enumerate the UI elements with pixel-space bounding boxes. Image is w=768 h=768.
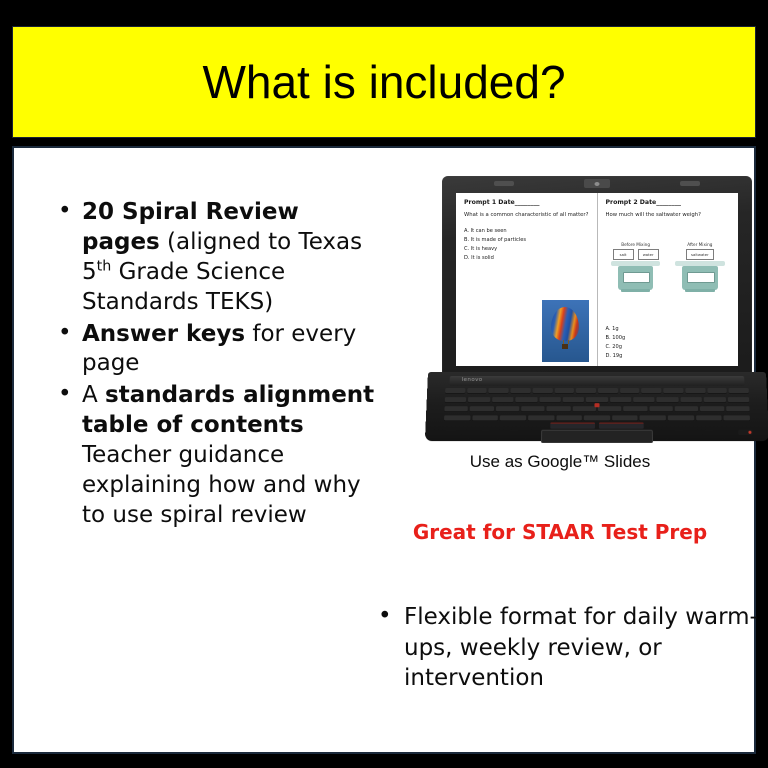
key xyxy=(726,406,750,411)
laptop-lid: Prompt 1 Date________ What is a common c… xyxy=(442,176,752,378)
key xyxy=(728,397,750,402)
key xyxy=(444,406,468,411)
key xyxy=(554,388,574,393)
scale-display xyxy=(623,272,651,283)
list-item: Flexible format for daily warm-ups, week… xyxy=(372,602,768,694)
key xyxy=(572,406,596,411)
key-row xyxy=(445,388,749,393)
balance-scales-diagram: Before Mixing salt water xyxy=(604,233,733,291)
prompt2-heading: Prompt 2 Date________ xyxy=(606,199,733,206)
trackpoint-button-left xyxy=(550,423,595,429)
beaker-row-after: saltwater xyxy=(670,249,729,260)
worksheet-pane-left: Prompt 1 Date________ What is a common c… xyxy=(456,193,597,366)
brand-logo: lenovo xyxy=(462,377,483,383)
key xyxy=(724,415,750,420)
key xyxy=(598,406,622,411)
slide-root: What is included? 20 Spiral Review pages… xyxy=(0,0,768,768)
key xyxy=(663,388,683,393)
option-d: D. 19g xyxy=(606,352,626,361)
webcam-icon xyxy=(584,179,610,188)
key xyxy=(707,388,727,393)
scale-icon xyxy=(606,261,665,291)
key xyxy=(633,397,655,402)
scale-base xyxy=(618,266,653,290)
key xyxy=(532,388,552,393)
key xyxy=(685,388,705,393)
page-title: What is included? xyxy=(202,59,565,105)
laptop-screen: Prompt 1 Date________ What is a common c… xyxy=(456,193,738,366)
key xyxy=(649,406,673,411)
hinge-bar xyxy=(449,376,744,386)
balloon-basket-icon xyxy=(562,344,568,349)
key xyxy=(445,388,465,393)
touchpad xyxy=(541,430,653,443)
key xyxy=(704,397,726,402)
laptop-caption: Use as Google™ Slides xyxy=(366,452,754,472)
option-c: C. It is heavy xyxy=(464,245,591,254)
trackpoint-button-right xyxy=(599,423,644,429)
prompt2-options: A. 1g B. 100g C. 20g D. 19g xyxy=(606,325,626,361)
key xyxy=(492,397,514,402)
key-row xyxy=(444,415,750,420)
bullet-bold-lead: standards alignment table of contents xyxy=(82,382,374,438)
option-b: B. 100g xyxy=(606,334,626,343)
key xyxy=(556,415,582,420)
worksheet-pane-right: Prompt 2 Date________ How much will the … xyxy=(597,193,739,366)
key xyxy=(668,415,694,420)
key xyxy=(547,406,571,411)
list-item: 20 Spiral Review pages (aligned to Texas… xyxy=(44,198,384,318)
trackpoint-buttons xyxy=(550,423,643,429)
right-column: Prompt 1 Date________ What is a common c… xyxy=(366,162,754,742)
content-panel: 20 Spiral Review pages (aligned to Texas… xyxy=(12,146,756,754)
key xyxy=(624,406,648,411)
title-banner: What is included? xyxy=(12,26,756,138)
beaker-saltwater: saltwater xyxy=(686,249,714,260)
bullet-text-cont: Grade Science Standards TEKS) xyxy=(82,259,285,315)
key xyxy=(576,388,596,393)
key xyxy=(598,388,618,393)
key xyxy=(511,388,531,393)
list-item: Answer keys for every page xyxy=(44,320,384,380)
prompt1-heading: Prompt 1 Date________ xyxy=(464,199,591,206)
key xyxy=(729,388,749,393)
ordinal-suffix: th xyxy=(97,258,112,274)
key xyxy=(642,388,662,393)
laptop-base: lenovo xyxy=(425,372,768,441)
scale-label-after: After Mixing xyxy=(670,242,729,247)
key xyxy=(521,406,545,411)
scale-icon xyxy=(670,261,729,291)
bullet-bold-lead: Answer keys xyxy=(82,321,245,347)
key xyxy=(584,415,610,420)
key xyxy=(696,415,722,420)
key xyxy=(620,388,640,393)
beaker-salt: salt xyxy=(613,249,634,260)
scale-after-mixing: After Mixing saltwater xyxy=(670,242,729,291)
option-a: A. 1g xyxy=(606,325,626,334)
laptop-illustration: Prompt 1 Date________ What is a common c… xyxy=(428,176,766,442)
option-b: B. It is made of particles xyxy=(464,236,591,245)
beaker-row-before: salt water xyxy=(606,249,665,260)
key xyxy=(500,415,526,420)
key xyxy=(586,397,608,402)
prompt1-options: A. It can be seen B. It is made of parti… xyxy=(464,227,591,263)
key xyxy=(675,406,699,411)
key xyxy=(657,397,679,402)
key xyxy=(700,406,724,411)
key xyxy=(612,415,638,420)
key xyxy=(496,406,520,411)
scale-display xyxy=(687,272,715,283)
scale-feet xyxy=(685,289,715,292)
key xyxy=(470,406,494,411)
key xyxy=(610,397,632,402)
key xyxy=(640,415,666,420)
scale-label-before: Before Mixing xyxy=(606,242,665,247)
thinkpad-logo-icon xyxy=(738,430,752,435)
prompt1-question: What is a common characteristic of all m… xyxy=(464,212,591,220)
key xyxy=(468,397,490,402)
option-d: D. It is solid xyxy=(464,254,591,263)
left-bullet-list: 20 Spiral Review pages (aligned to Texas… xyxy=(44,198,384,533)
lid-latch-left xyxy=(494,181,514,186)
key xyxy=(472,415,498,420)
key xyxy=(445,397,467,402)
prompt2-question: How much will the saltwater weigh? xyxy=(606,212,733,220)
beaker-water: water xyxy=(638,249,659,260)
key xyxy=(467,388,487,393)
key xyxy=(444,415,470,420)
lid-latch-right xyxy=(680,181,700,186)
key xyxy=(528,415,554,420)
hot-air-balloon-image xyxy=(542,300,589,362)
key xyxy=(563,397,585,402)
key xyxy=(680,397,702,402)
key xyxy=(489,388,509,393)
key xyxy=(539,397,561,402)
staar-highlight-text: Great for STAAR Test Prep xyxy=(366,520,754,544)
list-item: A standards alignment table of contents … xyxy=(44,381,384,530)
scale-base xyxy=(682,266,717,290)
option-a: A. It can be seen xyxy=(464,227,591,236)
trackpoint-icon xyxy=(594,403,599,407)
bullet-text: Teacher guidance explaining how and why … xyxy=(82,442,361,528)
balloon-envelope-icon xyxy=(551,307,579,341)
bullet-lead-plain: A xyxy=(82,382,105,408)
option-c: C. 20g xyxy=(606,343,626,352)
scale-feet xyxy=(621,289,651,292)
scale-before-mixing: Before Mixing salt water xyxy=(606,242,665,291)
key-row xyxy=(445,397,749,402)
key xyxy=(515,397,537,402)
